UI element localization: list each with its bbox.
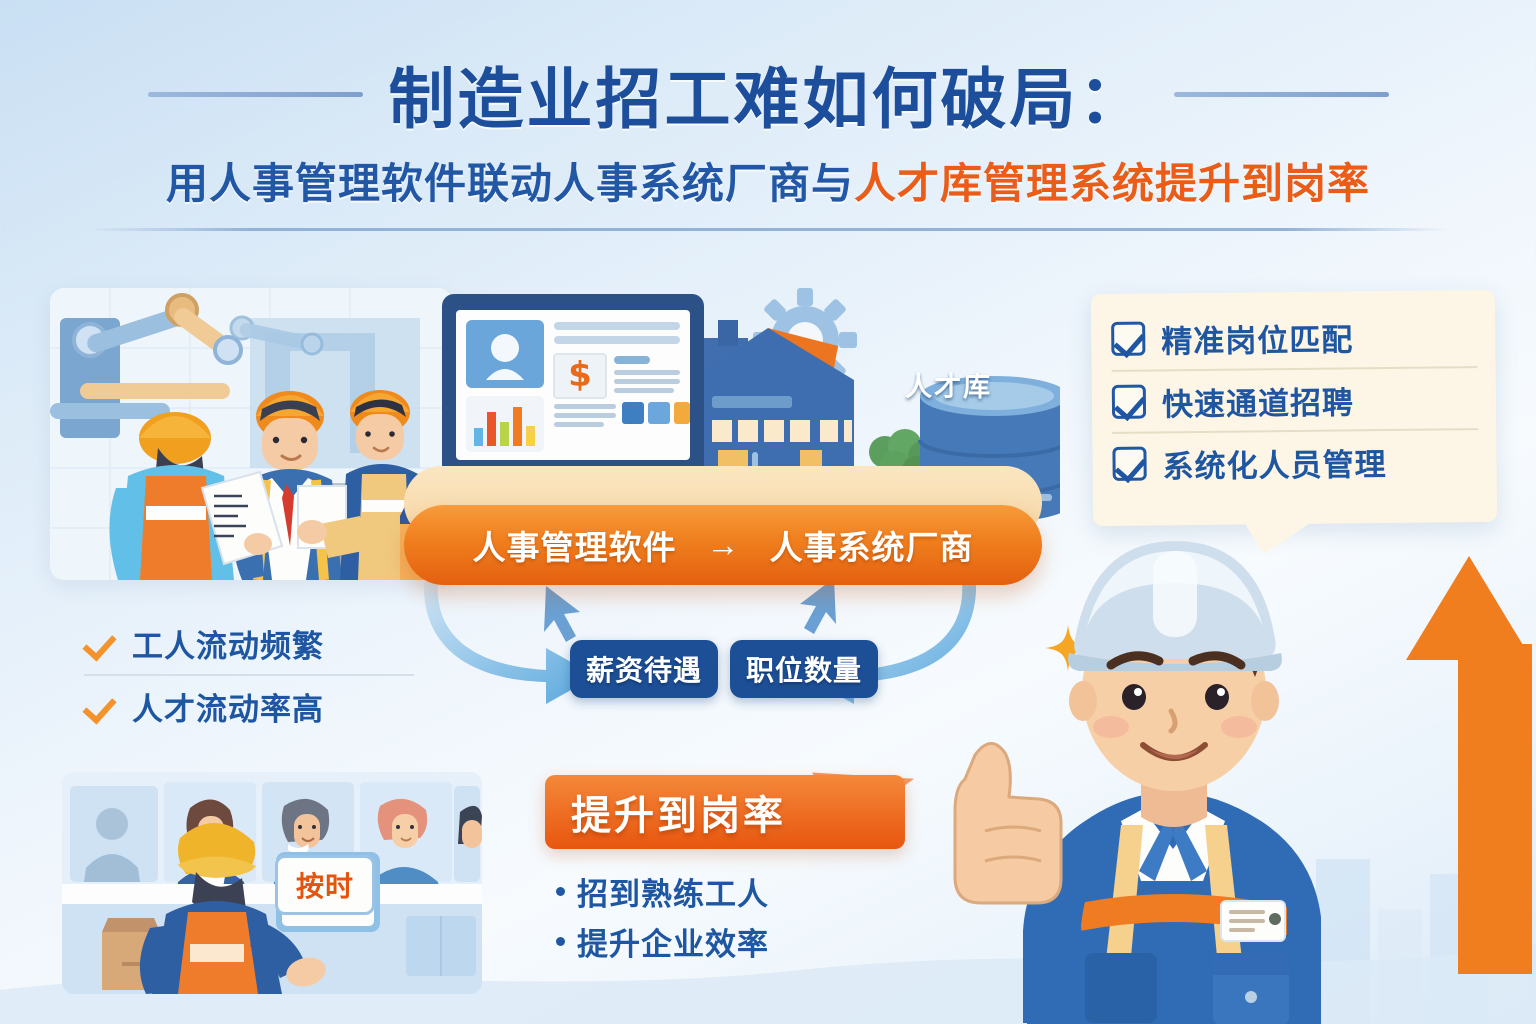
subtitle-blue-part: 用人事管理软件联动人事系统厂商与: [166, 159, 854, 208]
worker-mascot-svg: [935, 505, 1405, 1024]
promo-banner-label: 提升到岗率: [571, 783, 786, 841]
title-rule-left: [148, 92, 363, 97]
interview-participant: [458, 806, 482, 848]
flow-banner-left-label: 人事管理软件: [473, 521, 677, 569]
interview-scene-svg: [62, 772, 482, 994]
database-label: 人才库: [905, 365, 992, 404]
mid-pill-group: 薪资待遇 职位数量: [570, 640, 910, 698]
left-list-item[interactable]: 工人流动频繁: [84, 612, 414, 674]
checklist-item-label: 快速通道招聘: [1162, 377, 1354, 424]
left-list-item[interactable]: 人才流动率高: [84, 674, 414, 736]
bullet-dot-icon: [556, 887, 565, 896]
worker-mascot: [935, 505, 1405, 1024]
header-divider: [88, 228, 1448, 231]
left-list-item-label: 工人流动频繁: [132, 621, 324, 666]
promo-bullet-item: 提升企业效率: [556, 916, 769, 966]
promo-bullet-label: 提升企业效率: [577, 919, 769, 964]
checklist-item[interactable]: 系统化人员管理: [1112, 428, 1479, 494]
pill-button[interactable]: 薪资待遇: [570, 640, 718, 698]
promo-bullet-list: 招到熟练工人 提升企业效率: [556, 866, 769, 966]
checklist-item[interactable]: 快速通道招聘: [1112, 366, 1479, 432]
check-mark-icon: [84, 628, 114, 658]
header: 制造业招工难如何破局： 用人事管理软件联动人事系统厂商与人才库管理系统提升到岗率: [0, 0, 1536, 245]
subtitle-orange-part: 人才库管理系统提升到岗率: [854, 159, 1370, 208]
check-square-icon[interactable]: [1112, 385, 1146, 419]
pill-button-label: 薪资待遇: [586, 649, 702, 689]
left-bullet-list: 工人流动频繁 人才流动率高: [84, 612, 414, 736]
title-rule-right: [1174, 92, 1389, 97]
check-mark-icon: [84, 691, 114, 721]
checklist-card: 精准岗位匹配 快速通道招聘 系统化人员管理: [1091, 290, 1497, 526]
checklist-item-label: 精准岗位匹配: [1161, 314, 1353, 361]
promo-bullet-label: 招到熟练工人: [577, 869, 769, 914]
checklist-item[interactable]: 精准岗位匹配: [1111, 304, 1478, 370]
check-square-icon[interactable]: [1112, 447, 1146, 481]
pill-button-label: 职位数量: [746, 649, 862, 689]
thumbs-up-icon: [955, 743, 1061, 903]
tablet-badge-label: 按时: [296, 865, 354, 905]
page-title: 制造业招工难如何破局：: [389, 46, 1148, 142]
checklist-item-label: 系统化人员管理: [1162, 439, 1386, 486]
video-interview-illustration: [62, 772, 482, 994]
svg-text:$: $: [568, 355, 592, 395]
flow-banner-arrow-icon: →: [707, 526, 740, 564]
id-badge: [1221, 901, 1285, 941]
cursor-pointer-icon: [800, 578, 836, 634]
tablet-badge: 按时: [275, 855, 375, 915]
left-list-item-label: 人才流动率高: [132, 684, 324, 729]
factory-scene-svg: [50, 288, 452, 580]
check-square-icon[interactable]: [1111, 322, 1145, 356]
page-subtitle: 用人事管理软件联动人事系统厂商与人才库管理系统提升到岗率: [0, 150, 1536, 211]
title-row: 制造业招工难如何破局：: [0, 46, 1536, 142]
cursor-pointer-icon: [544, 586, 580, 642]
promo-bullet-item: 招到熟练工人: [556, 866, 769, 916]
factory-workers-illustration: [50, 288, 452, 580]
pill-button[interactable]: 职位数量: [730, 640, 878, 698]
promo-banner: 提升到岗率: [545, 775, 905, 849]
bullet-dot-icon: [556, 937, 565, 946]
